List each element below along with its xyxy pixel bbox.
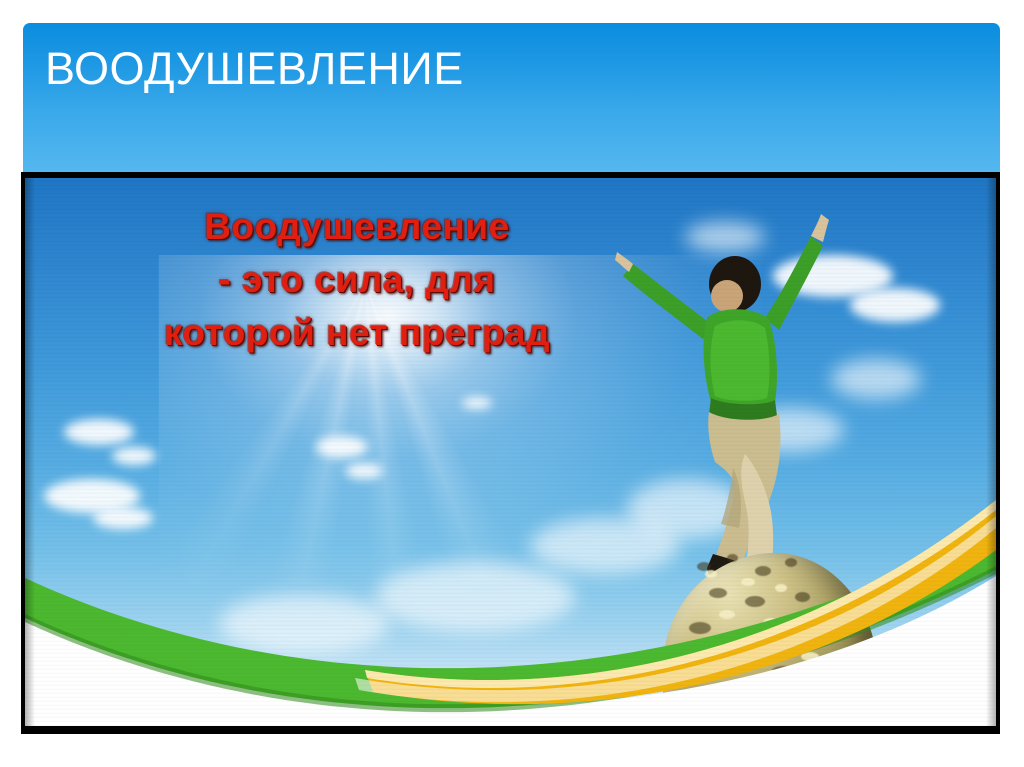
photo-frame: Воодушевление - это сила, для которой не… (21, 172, 1000, 734)
sky-background (25, 178, 996, 726)
presentation-slide: ВООДУШЕВЛЕНИЕ (0, 0, 1024, 767)
slide-title-bar: ВООДУШЕВЛЕНИЕ (23, 23, 1000, 172)
motivational-photo: Воодушевление - это сила, для которой не… (25, 178, 996, 726)
page-title: ВООДУШЕВЛЕНИЕ (45, 45, 464, 93)
